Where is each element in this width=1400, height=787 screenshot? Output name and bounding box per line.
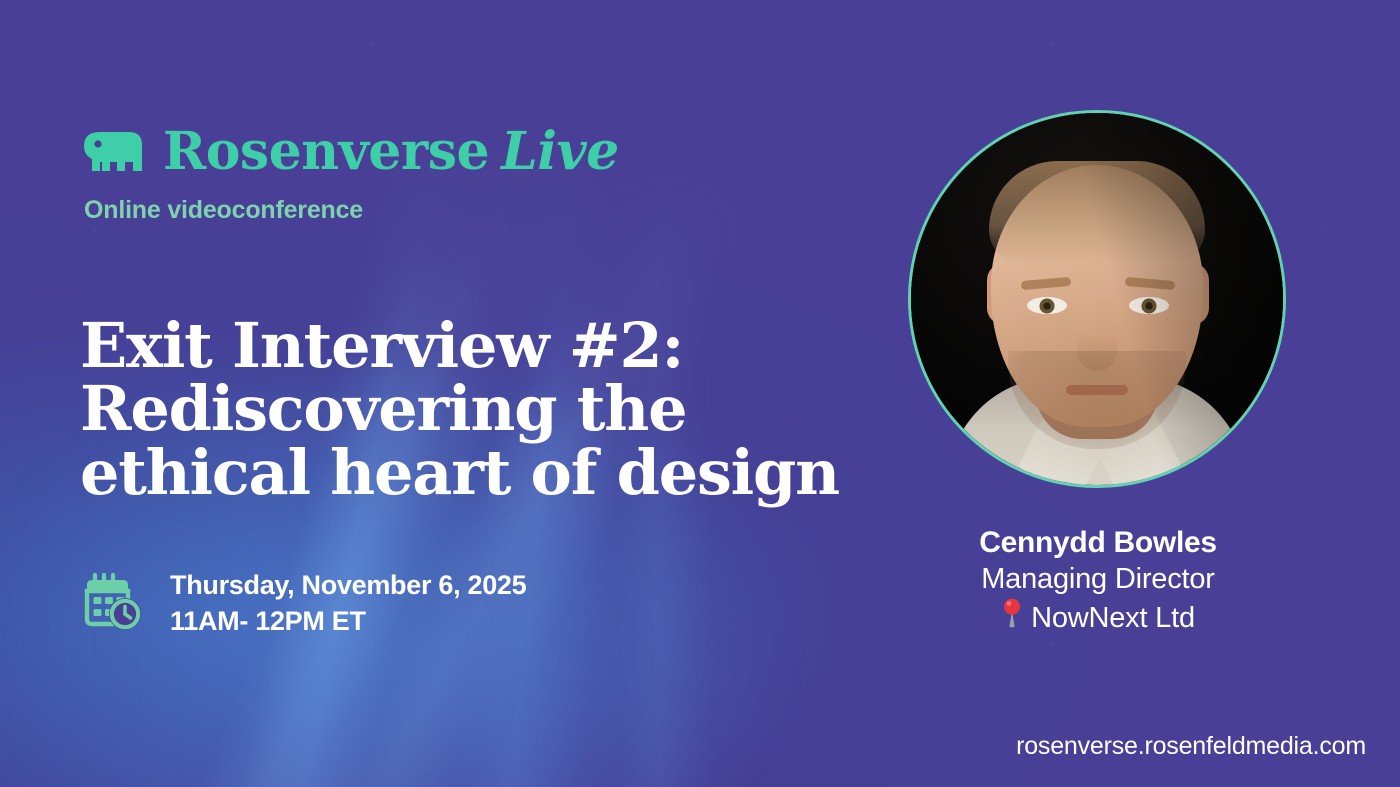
brand-product: Live (489, 121, 619, 182)
event-datetime-text: Thursday, November 6, 2025 11AM- 12PM ET (170, 568, 526, 640)
event-time: 11AM- 12PM ET (170, 604, 526, 640)
page-title: Exit Interview #2: Rediscovering the eth… (80, 314, 910, 506)
website-url: rosenverse.rosenfeldmedia.com (1016, 732, 1366, 761)
event-format-subtitle: Online videoconference (84, 196, 363, 225)
event-datetime: Thursday, November 6, 2025 11AM- 12PM ET (82, 568, 526, 640)
speaker-info: Cennydd Bowles Managing Director NowNext… (880, 524, 1316, 638)
speaker-avatar (908, 110, 1286, 488)
speaker-company-row: NowNext Ltd (880, 598, 1316, 638)
event-promo-poster: RosenverseLive Online videoconference Ex… (0, 0, 1400, 787)
pin-icon (1001, 598, 1023, 638)
brand-name: Rosenverse (163, 121, 489, 182)
speaker-role: Managing Director (880, 561, 1316, 598)
speaker-photo (911, 113, 1283, 485)
speaker-name: Cennydd Bowles (880, 524, 1316, 561)
headline-line-2: Rediscovering the (80, 377, 910, 441)
elephant-icon (80, 128, 146, 177)
headline-line-1: Exit Interview #2: (80, 314, 910, 378)
headline-line-3: ethical heart of design (80, 441, 910, 505)
event-date: Thursday, November 6, 2025 (170, 568, 526, 604)
brand-wordmark: RosenverseLive (163, 126, 619, 178)
brand-lockup: RosenverseLive (80, 126, 619, 178)
speaker-company: NowNext Ltd (1031, 600, 1195, 637)
calendar-clock-icon (82, 571, 144, 638)
left-content-column: RosenverseLive Online videoconference Ex… (80, 0, 890, 787)
